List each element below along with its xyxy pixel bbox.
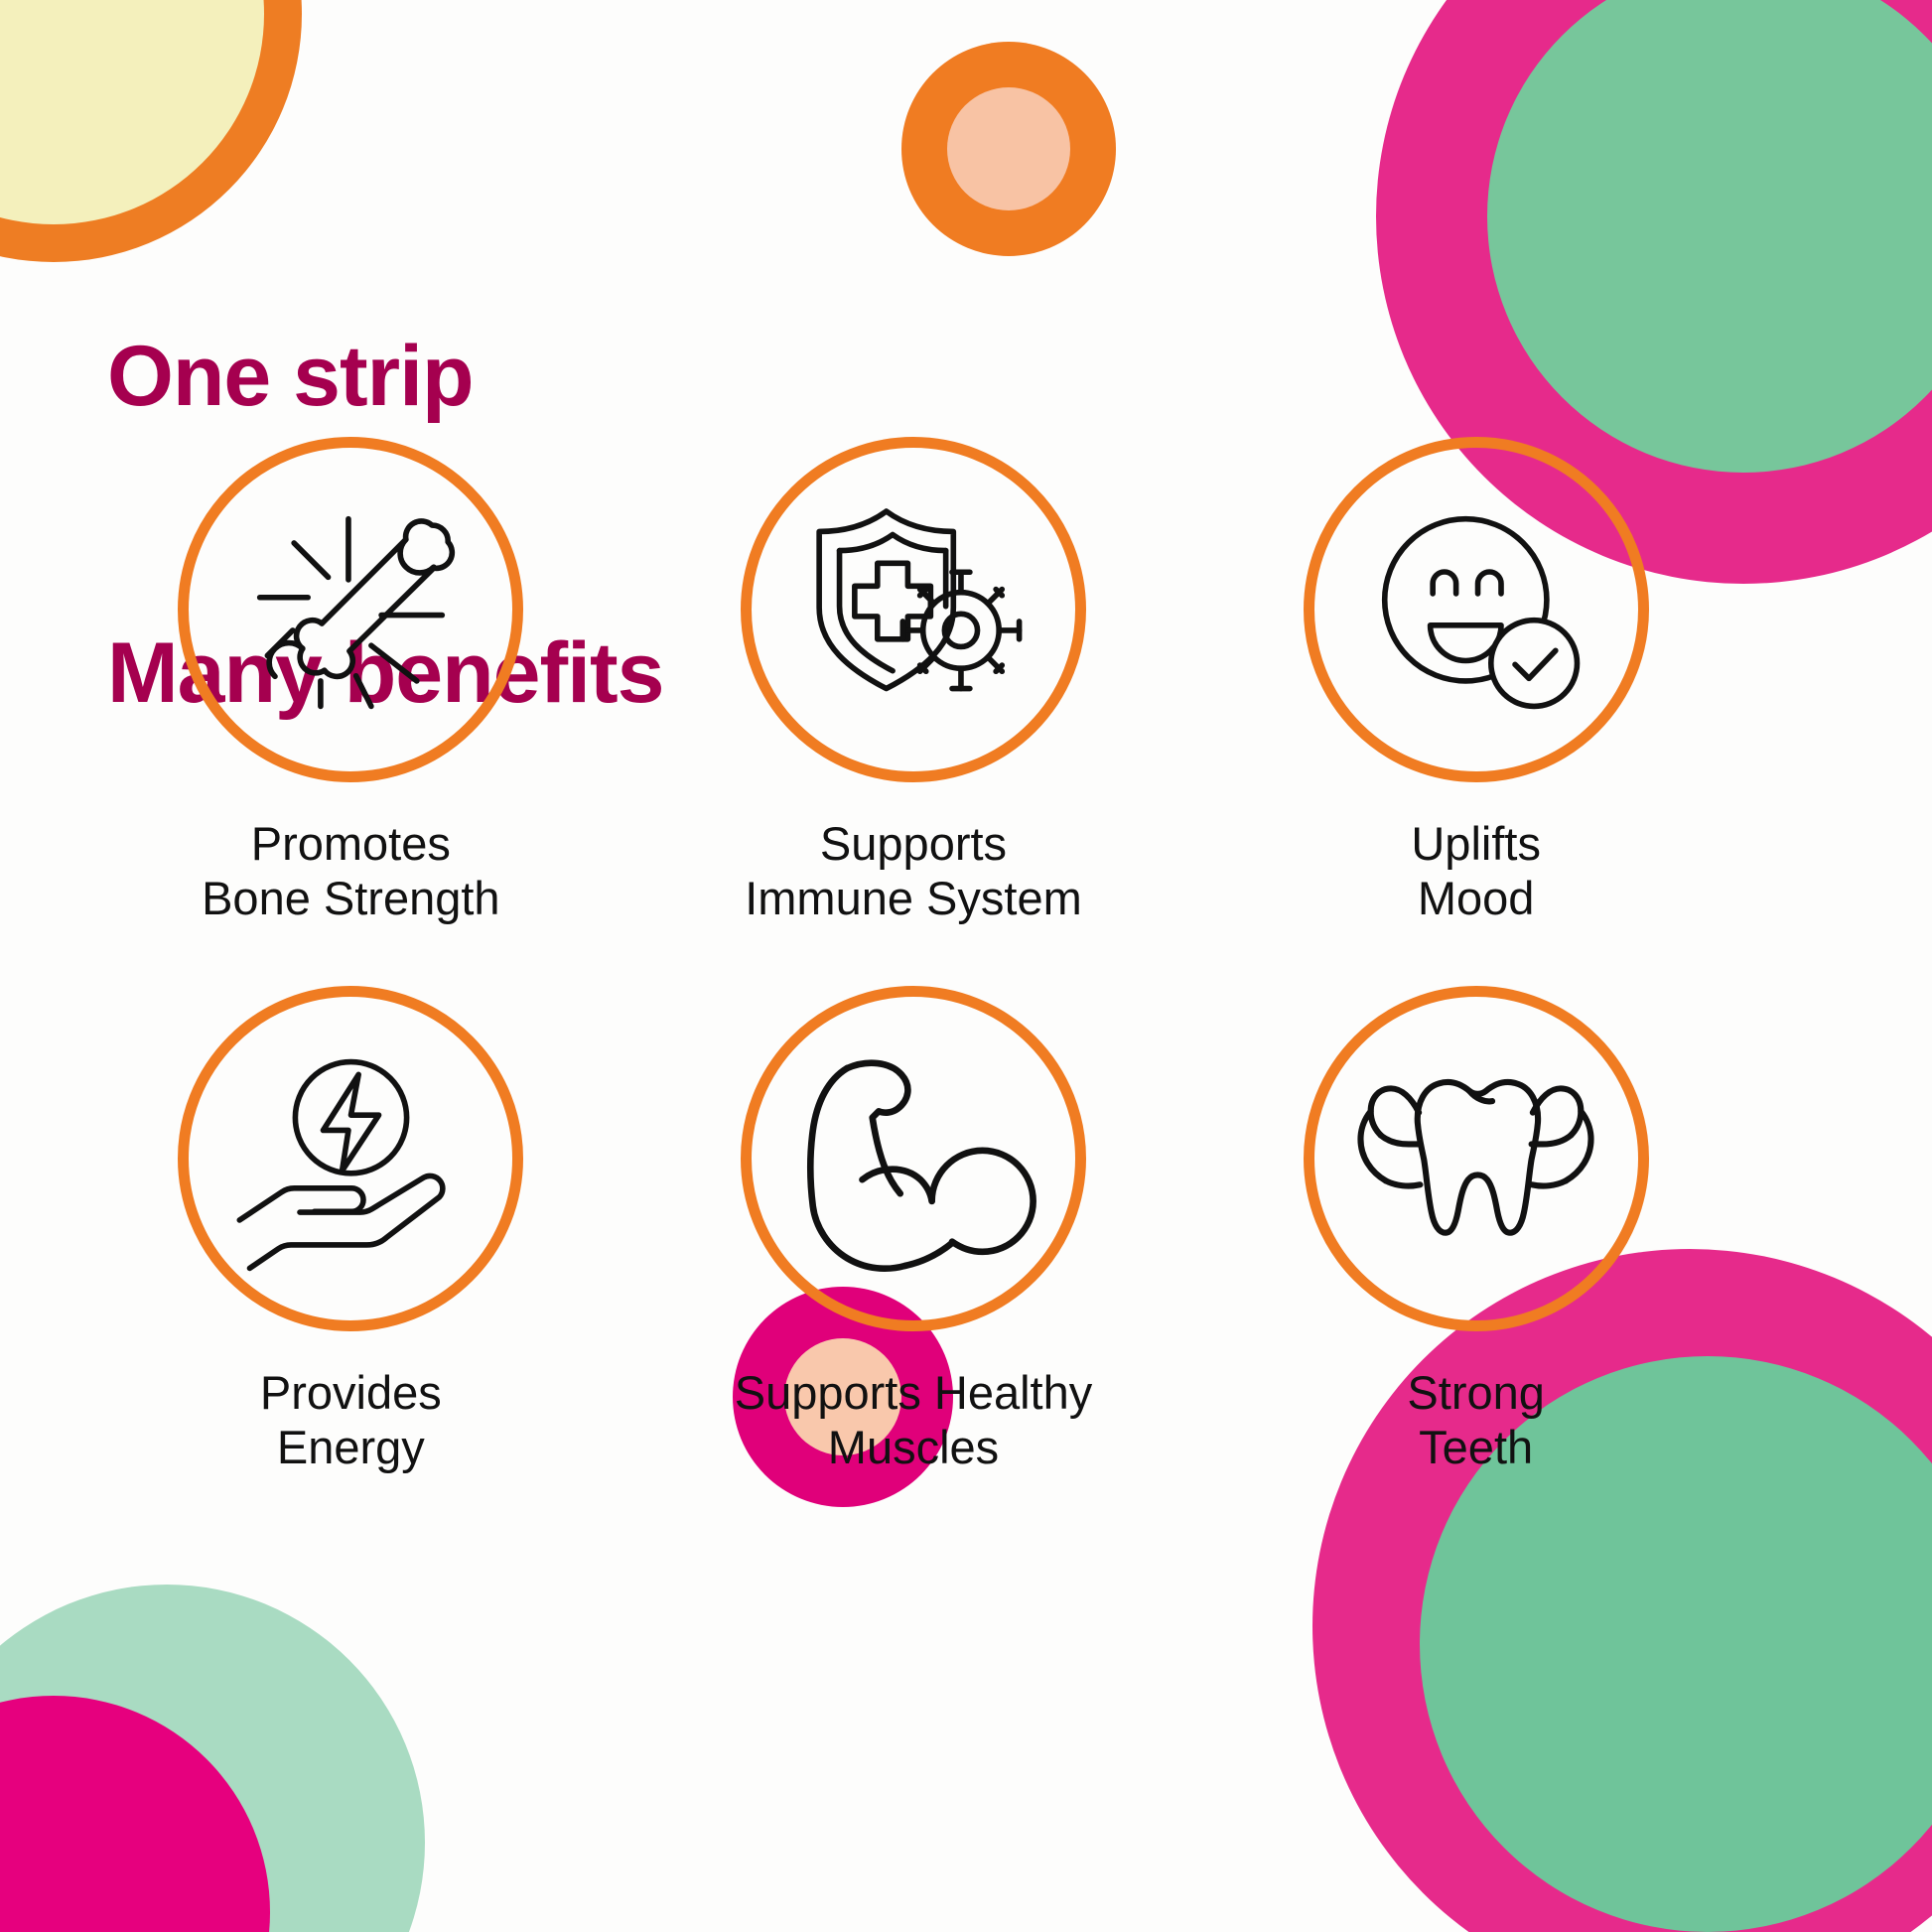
benefit-label-line-2: Mood: [1418, 872, 1535, 924]
benefit-label-line-1: Supports Healthy: [735, 1366, 1093, 1419]
benefit-item-energy[interactable]: ProvidesEnergy: [69, 986, 632, 1475]
benefit-icon-ring: [741, 437, 1086, 782]
benefit-icon-ring: [1304, 986, 1649, 1331]
benefit-label-line-2: Immune System: [745, 872, 1082, 924]
bone-icon: [224, 483, 478, 737]
benefit-icon-ring: [1304, 437, 1649, 782]
benefit-label: StrongTeeth: [1407, 1365, 1544, 1475]
deco-bottom-left-outer-circle: [0, 1585, 425, 1932]
benefit-icon-ring: [178, 437, 523, 782]
benefit-label-line-2: Muscles: [828, 1421, 999, 1473]
benefit-item-mood[interactable]: UpliftsMood: [1194, 437, 1757, 926]
benefit-item-teeth[interactable]: StrongTeeth: [1194, 986, 1757, 1475]
benefit-item-bone-strength[interactable]: PromotesBone Strength: [69, 437, 632, 926]
benefit-label-line-1: Provides: [260, 1366, 442, 1419]
shield-virus-icon: [786, 483, 1039, 737]
poster-canvas: One strip Many benefits: [0, 0, 1932, 1932]
benefit-label-line-1: Supports: [820, 817, 1007, 870]
benefit-label: UpliftsMood: [1411, 816, 1541, 926]
hand-bolt-icon: [224, 1032, 478, 1285]
flexed-biceps-icon: [786, 1032, 1039, 1285]
deco-bottom-left-inner-circle: [0, 1696, 270, 1932]
benefits-grid: PromotesBone Strength: [69, 437, 1757, 1475]
benefit-label-line-1: Promotes: [251, 817, 451, 870]
deco-top-orange-outer-circle: [901, 42, 1116, 256]
benefit-label: PromotesBone Strength: [202, 816, 500, 926]
benefit-label-line-1: Uplifts: [1411, 817, 1541, 870]
benefit-icon-ring: [178, 986, 523, 1331]
benefit-label: SupportsImmune System: [745, 816, 1082, 926]
benefit-item-immune-system[interactable]: SupportsImmune System: [632, 437, 1195, 926]
benefit-label: ProvidesEnergy: [260, 1365, 442, 1475]
benefit-label-line-2: Energy: [277, 1421, 425, 1473]
benefit-icon-ring: [741, 986, 1086, 1331]
page-title-line-1: One strip: [107, 328, 663, 427]
deco-top-orange-inner-circle: [947, 87, 1070, 210]
benefit-label-line-1: Strong: [1407, 1366, 1544, 1419]
benefit-item-muscles[interactable]: Supports HealthyMuscles: [632, 986, 1195, 1475]
deco-top-right-inner-circle: [1487, 0, 1932, 473]
benefit-label-line-2: Bone Strength: [202, 872, 500, 924]
benefit-label-line-2: Teeth: [1419, 1421, 1533, 1473]
smiley-check-icon: [1349, 483, 1602, 737]
benefit-label: Supports HealthyMuscles: [735, 1365, 1093, 1475]
strong-tooth-icon: [1349, 1032, 1602, 1285]
